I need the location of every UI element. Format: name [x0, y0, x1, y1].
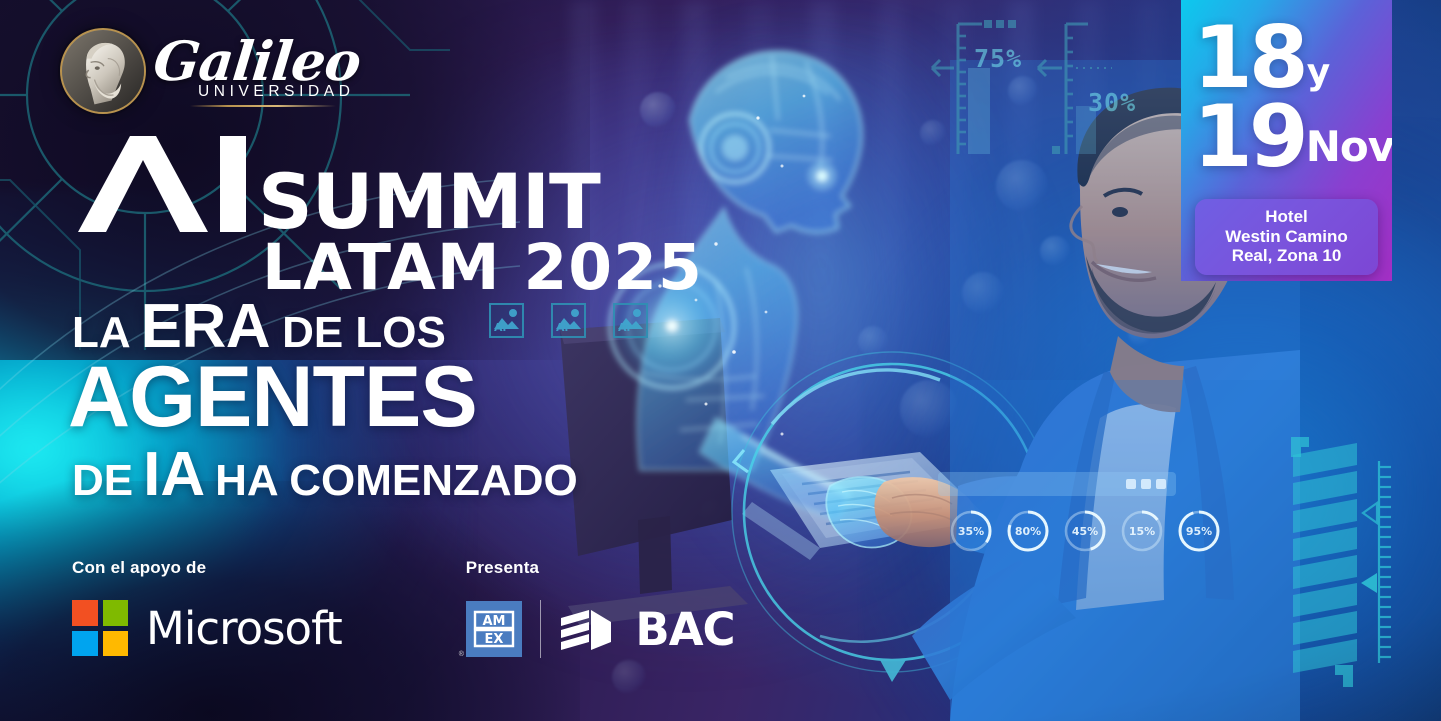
ai-chip-label: Ai [618, 321, 630, 334]
hud-bar-gauges: 75% 30% [912, 6, 1172, 161]
ui-dot [1141, 479, 1151, 489]
circle-gauge-label: 35% [948, 508, 994, 554]
headline-ha-comenzado: HA COMENZADO [215, 458, 578, 504]
sponsor-group-presents: Presenta AM EX ® [466, 558, 735, 658]
date-row-1: 18 y [1181, 24, 1392, 93]
headline-ia: IA [143, 442, 205, 507]
bac-stripes-icon [559, 604, 617, 654]
microsoft-logo: Microsoft [72, 600, 342, 656]
hud-circle-gauges: 35% 80% 45% 15% [948, 508, 1222, 554]
amex-mark-icon: AM EX [471, 608, 517, 650]
presenting-sponsors: AM EX ® BAC [466, 600, 735, 658]
date-panel: 18 y 19 Nov Hotel Westin Camino Real, Zo… [1181, 0, 1392, 281]
event-logo-latam-year: LATAM 2025 [262, 236, 703, 299]
hud-gauge-label-1: 75% [974, 44, 1022, 73]
circle-gauge: 95% [1176, 508, 1222, 554]
hud-gauge-label-2: 30% [1088, 88, 1136, 117]
event-banner: 75% 30% Ai Ai Ai 35% [0, 0, 1441, 721]
date-row-2: 19 Nov [1181, 103, 1392, 172]
galileo-bust-icon [60, 28, 146, 114]
sponsor-presents-label: Presenta [466, 558, 735, 578]
sponsor-divider [540, 600, 542, 658]
circle-gauge-label: 80% [1005, 508, 1051, 554]
circle-gauge: 35% [948, 508, 994, 554]
sponsor-support-label: Con el apoyo de [72, 558, 342, 578]
amex-logo: AM EX ® [466, 601, 522, 657]
headline-de: DE [72, 458, 133, 504]
headline-line-2: AGENTES [68, 354, 578, 442]
circle-gauge: 45% [1062, 508, 1108, 554]
headline-line-3: DE IA HA COMENZADO [72, 442, 578, 507]
headline-agentes: AGENTES [68, 354, 477, 442]
galileo-subtitle: UNIVERSIDAD [198, 83, 355, 101]
headline-block: LA ERA DE LOS AGENTES DE IA HA COMENZADO [72, 296, 578, 507]
galileo-wordmark: Galileo UNIVERSIDAD [154, 31, 334, 111]
event-logo: SUMMIT LATAM 2025 [70, 132, 703, 299]
ai-monogram-icon [70, 132, 256, 234]
date-day-2: 19 [1193, 103, 1305, 172]
laptop-ui-bar [938, 472, 1176, 496]
ui-dot [1156, 479, 1166, 489]
venue-line-1: Hotel [1203, 207, 1370, 227]
ai-image-icon: Ai [613, 303, 648, 338]
amex-registered-mark: ® [459, 651, 464, 658]
ui-dot [1126, 479, 1136, 489]
date-day-1: 18 [1193, 24, 1305, 93]
svg-text:AM: AM [482, 614, 505, 629]
event-logo-summit: SUMMIT [258, 169, 600, 234]
venue-line-3: Real, Zona 10 [1203, 246, 1370, 266]
date-conjunction: y [1307, 55, 1330, 91]
right-edge-decoration [1291, 415, 1419, 705]
galileo-rule [190, 105, 336, 107]
sponsor-group-support: Con el apoyo de Microsoft [72, 558, 342, 658]
sponsors-block: Con el apoyo de Microsoft Presenta [72, 558, 735, 658]
circle-gauge: 80% [1005, 508, 1051, 554]
circle-gauge-label: 15% [1119, 508, 1165, 554]
venue-line-2: Westin Camino [1203, 227, 1370, 247]
svg-text:EX: EX [484, 632, 503, 647]
date-month: Nov [1306, 126, 1392, 168]
venue-badge: Hotel Westin Camino Real, Zona 10 [1195, 199, 1378, 275]
circle-gauge-label: 95% [1176, 508, 1222, 554]
bac-wordmark: BAC [635, 603, 734, 656]
circle-gauge-label: 45% [1062, 508, 1108, 554]
microsoft-wordmark: Microsoft [146, 602, 342, 655]
microsoft-squares-icon [72, 600, 128, 656]
galileo-university-logo: Galileo UNIVERSIDAD [60, 28, 334, 114]
circle-gauge: 15% [1119, 508, 1165, 554]
